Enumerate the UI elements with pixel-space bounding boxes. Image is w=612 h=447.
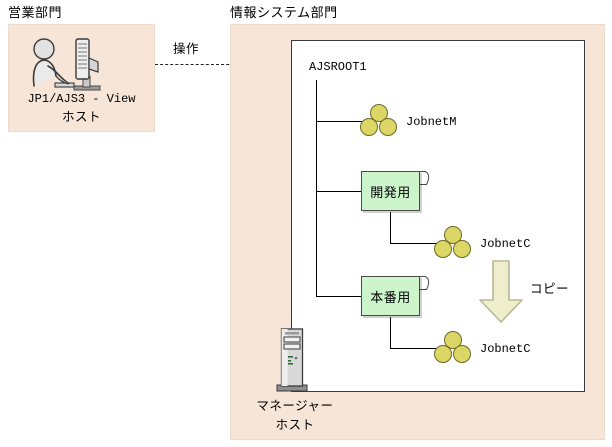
sales-host-label-line1: JP1/AJS3 - View <box>12 92 151 106</box>
manager-host-label-line2: ホスト <box>240 417 350 433</box>
copy-arrow-icon <box>478 260 524 324</box>
tree-child-line-dev-horizontal <box>390 243 436 244</box>
information-system-department-title: 情報システム部門 <box>230 5 338 20</box>
folder-label-prod: 本番用 <box>361 276 420 316</box>
jobnet-label-dev-jobnetc: JobnetC <box>480 237 530 251</box>
sales-host-label-line2: ホスト <box>12 109 151 125</box>
tree-branch-line-jobnetm <box>316 121 362 122</box>
operation-connector-label: 操作 <box>173 41 223 57</box>
diagram-canvas: 営業部門 JP1/AJS <box>0 0 612 447</box>
tree-child-line-prod-horizontal <box>390 348 436 349</box>
folder-icon-dev: 開発用 <box>361 171 433 213</box>
folder-icon-prod: 本番用 <box>361 276 433 318</box>
tree-branch-line-dev-folder <box>316 191 362 192</box>
tree-trunk-line <box>316 80 317 296</box>
tree-root-label: AJSROOT1 <box>309 60 367 74</box>
jobnet-label-jobnetm: JobnetM <box>406 115 456 129</box>
folder-tab-prod-icon <box>419 276 432 292</box>
jobnet-icon-jobnetm <box>360 104 398 137</box>
tree-branch-line-prod-folder <box>316 296 362 297</box>
copy-arrow-label: コピー <box>530 281 569 297</box>
folder-tab-dev-icon <box>419 171 432 187</box>
person-at-workstation-icon <box>26 36 104 94</box>
tree-child-line-dev-vertical <box>390 212 391 244</box>
jobnet-label-prod-jobnetc: JobnetC <box>480 342 530 356</box>
tree-child-line-prod-vertical <box>390 317 391 349</box>
jobnet-icon-prod-jobnetc <box>434 331 472 364</box>
tower-pc-icon <box>276 327 308 393</box>
folder-label-dev: 開発用 <box>361 171 420 211</box>
manager-host-label-line1: マネージャー <box>240 398 350 414</box>
sales-department-title: 営業部門 <box>8 5 62 20</box>
jobnet-icon-dev-jobnetc <box>434 226 472 259</box>
